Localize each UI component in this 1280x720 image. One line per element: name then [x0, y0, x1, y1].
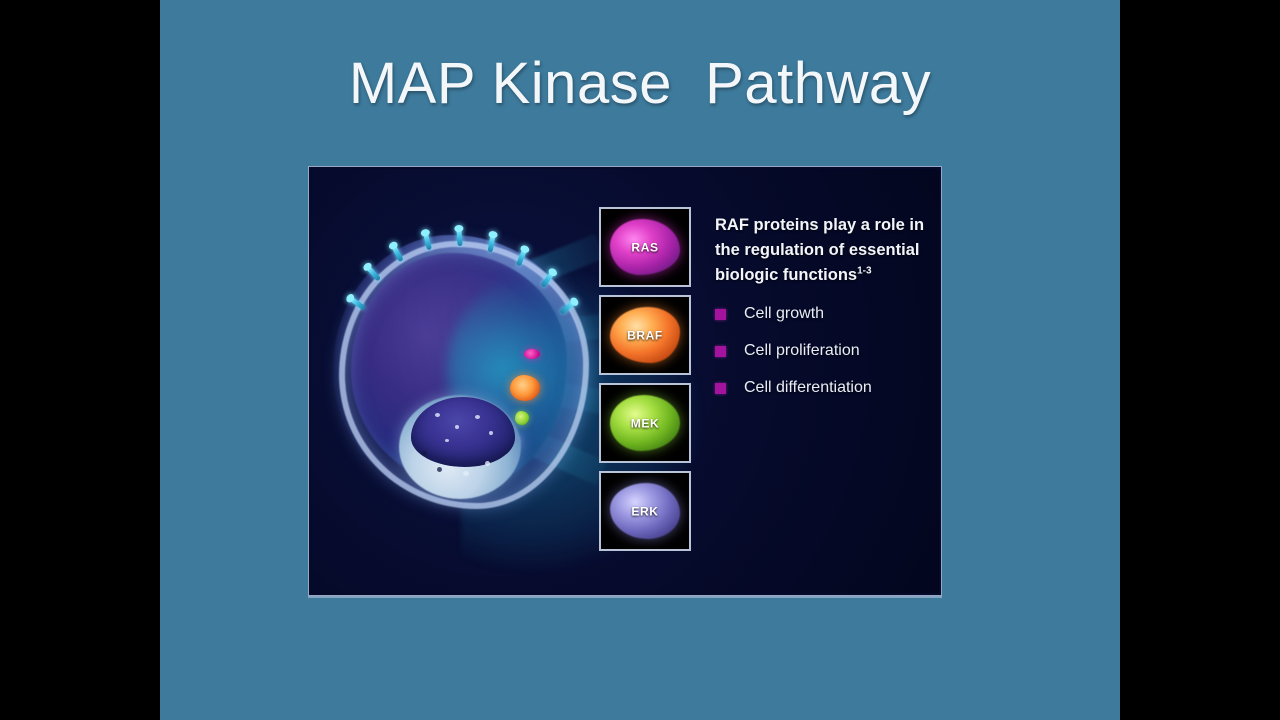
nuclear-pore — [435, 413, 440, 417]
letterbox-bar-left — [0, 0, 160, 720]
figure-canvas: RAS BRAF MEK ERK — [311, 169, 939, 593]
protein-panel-label: RAS — [601, 241, 689, 255]
nuclear-pore — [485, 461, 490, 466]
figure-text-column: RAF proteins play a role in the regulati… — [715, 213, 939, 416]
protein-panel-list: RAS BRAF MEK ERK — [599, 207, 695, 559]
cell-illustration — [317, 199, 637, 549]
figure-heading-superscript: 1-3 — [857, 265, 871, 276]
protein-panel-mek[interactable]: MEK — [599, 383, 691, 463]
nuclear-pore — [489, 431, 493, 435]
nuclear-pore — [463, 471, 469, 476]
bullet-label: Cell differentiation — [744, 379, 872, 397]
bullet-label: Cell proliferation — [744, 342, 860, 360]
protein-panel-label: BRAF — [601, 329, 689, 343]
bullet-square-icon — [715, 383, 726, 394]
figure-heading-text: RAF proteins play a role in the regulati… — [715, 216, 924, 284]
nuclear-pore — [445, 439, 449, 442]
bullet-square-icon — [715, 346, 726, 357]
figure-heading: RAF proteins play a role in the regulati… — [715, 213, 939, 287]
protein-panel-ras[interactable]: RAS — [599, 207, 691, 287]
bullet-label: Cell growth — [744, 305, 824, 323]
braf-molecule — [510, 375, 540, 401]
membrane-receptor-icon — [456, 229, 462, 246]
ras-molecule — [524, 349, 540, 359]
nuclear-pore — [437, 467, 442, 472]
protein-panel-erk[interactable]: ERK — [599, 471, 691, 551]
presentation-slide: MAP Kinase Pathway — [160, 0, 1120, 720]
nuclear-pore — [421, 451, 427, 456]
bullet-item-cell-differentiation: Cell differentiation — [715, 379, 939, 397]
bullet-square-icon — [715, 309, 726, 320]
page-title: MAP Kinase Pathway — [160, 52, 1120, 116]
protein-panel-label: MEK — [601, 417, 689, 431]
nuclear-pore — [475, 415, 480, 419]
protein-panel-braf[interactable]: BRAF — [599, 295, 691, 375]
protein-panel-label: ERK — [601, 505, 689, 519]
nuclear-pore — [455, 425, 459, 429]
screen: MAP Kinase Pathway — [0, 0, 1280, 720]
letterbox-bar-right — [1120, 0, 1280, 720]
bullet-item-cell-proliferation: Cell proliferation — [715, 342, 939, 360]
pathway-figure: RAS BRAF MEK ERK — [308, 166, 942, 596]
bullet-item-cell-growth: Cell growth — [715, 305, 939, 323]
